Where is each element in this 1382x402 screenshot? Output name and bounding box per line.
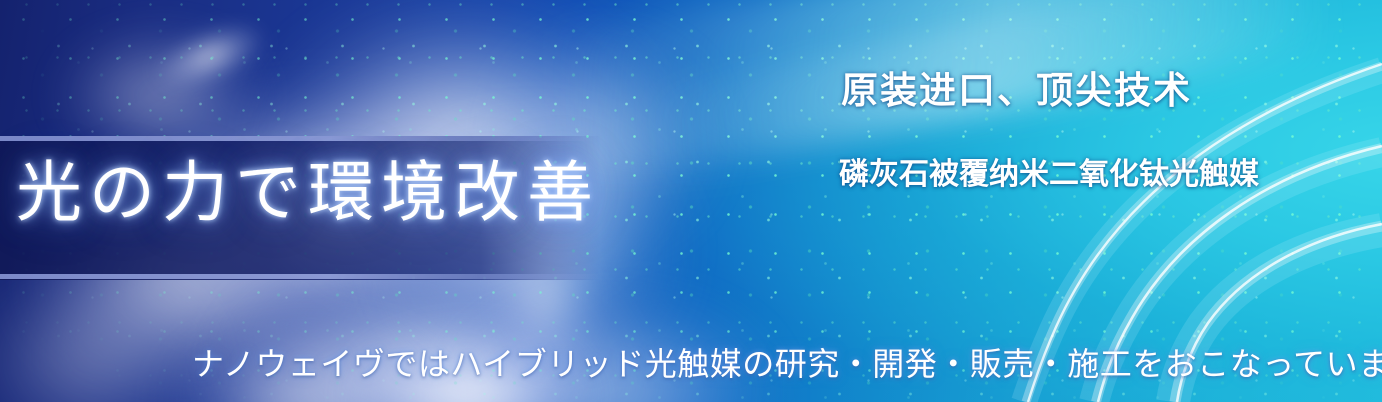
caption-japanese: ナノウェイヴではハイブリッド光触媒の研究・開発・販売・施工をおこなっています	[192, 348, 1382, 380]
promo-subheading-chinese: 磷灰石被覆纳米二氧化钛光触媒	[839, 160, 1259, 190]
headline-band-rule-top	[0, 136, 600, 141]
promo-heading-chinese: 原装进口、顶尖技术	[841, 72, 1192, 109]
hero-banner: 光の力で環境改善 原装进口、顶尖技术 磷灰石被覆纳米二氧化钛光触媒 ナノウェイヴ…	[0, 0, 1382, 402]
headline-japanese: 光の力で環境改善	[16, 160, 600, 226]
headline-band-rule-bottom	[0, 274, 600, 279]
